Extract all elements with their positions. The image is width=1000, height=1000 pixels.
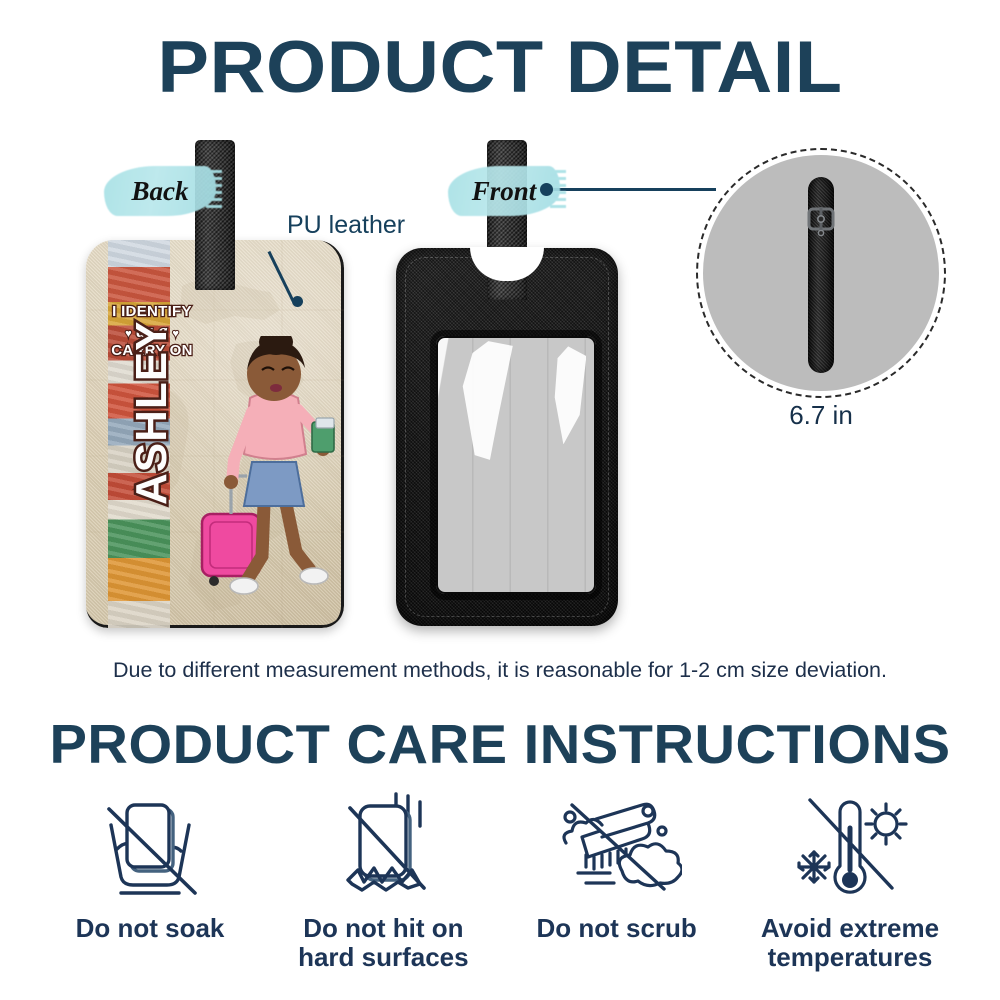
leader-dot-front xyxy=(540,183,553,196)
no-extreme-temp-icon xyxy=(788,790,912,908)
care-item-do-not-soak: Do not soak xyxy=(40,790,260,943)
care-item-do-not-hit: Do not hit on hard surfaces xyxy=(273,790,493,972)
no-impact-icon xyxy=(324,790,442,908)
care-item-avoid-temperatures: Avoid extreme temperatures xyxy=(740,790,960,972)
luggage-tag-back: I IDENTIFY ♥ as a ♥ CARRY ON ASHLEY xyxy=(86,240,344,628)
callout-back: Back xyxy=(104,166,216,216)
care-label-do-not-hit: Do not hit on hard surfaces xyxy=(298,914,469,972)
callout-pu-leather-label: PU leather xyxy=(287,211,405,240)
buckle-icon xyxy=(804,205,838,247)
traveler-illustration xyxy=(190,336,342,604)
personalized-name: ASHLEY xyxy=(127,325,177,505)
tag-front-body xyxy=(396,248,618,626)
measurement-disclaimer: Due to different measurement methods, it… xyxy=(0,658,1000,683)
no-soak-icon xyxy=(91,790,209,908)
callout-front-label: Front xyxy=(472,176,537,207)
tag-back-body: I IDENTIFY ♥ as a ♥ CARRY ON ASHLEY xyxy=(86,240,344,628)
leader-line-front xyxy=(551,188,716,191)
page-title-product-detail: PRODUCT DETAIL xyxy=(0,26,1000,109)
strap-size-label: 6.7 in xyxy=(703,400,939,431)
care-label-do-not-scrub: Do not scrub xyxy=(536,914,696,943)
luggage-tag-front xyxy=(396,248,618,626)
care-item-do-not-scrub: Do not scrub xyxy=(507,790,727,943)
page-title-product-care: PRODUCT CARE INSTRUCTIONS xyxy=(0,712,1000,776)
quote-line-1: I IDENTIFY xyxy=(104,304,200,319)
care-instructions-row: Do not soak Do not hit on hard surfaces xyxy=(40,790,960,972)
care-label-avoid-temperatures: Avoid extreme temperatures xyxy=(761,914,939,972)
strap-detail-circle xyxy=(703,155,939,391)
care-label-do-not-soak: Do not soak xyxy=(76,914,225,943)
callout-back-label: Back xyxy=(132,176,189,207)
leader-dot-pu-leather xyxy=(292,296,303,307)
stitching-outline xyxy=(405,257,609,617)
no-scrub-icon xyxy=(552,790,682,908)
passport-tickets xyxy=(312,418,334,452)
